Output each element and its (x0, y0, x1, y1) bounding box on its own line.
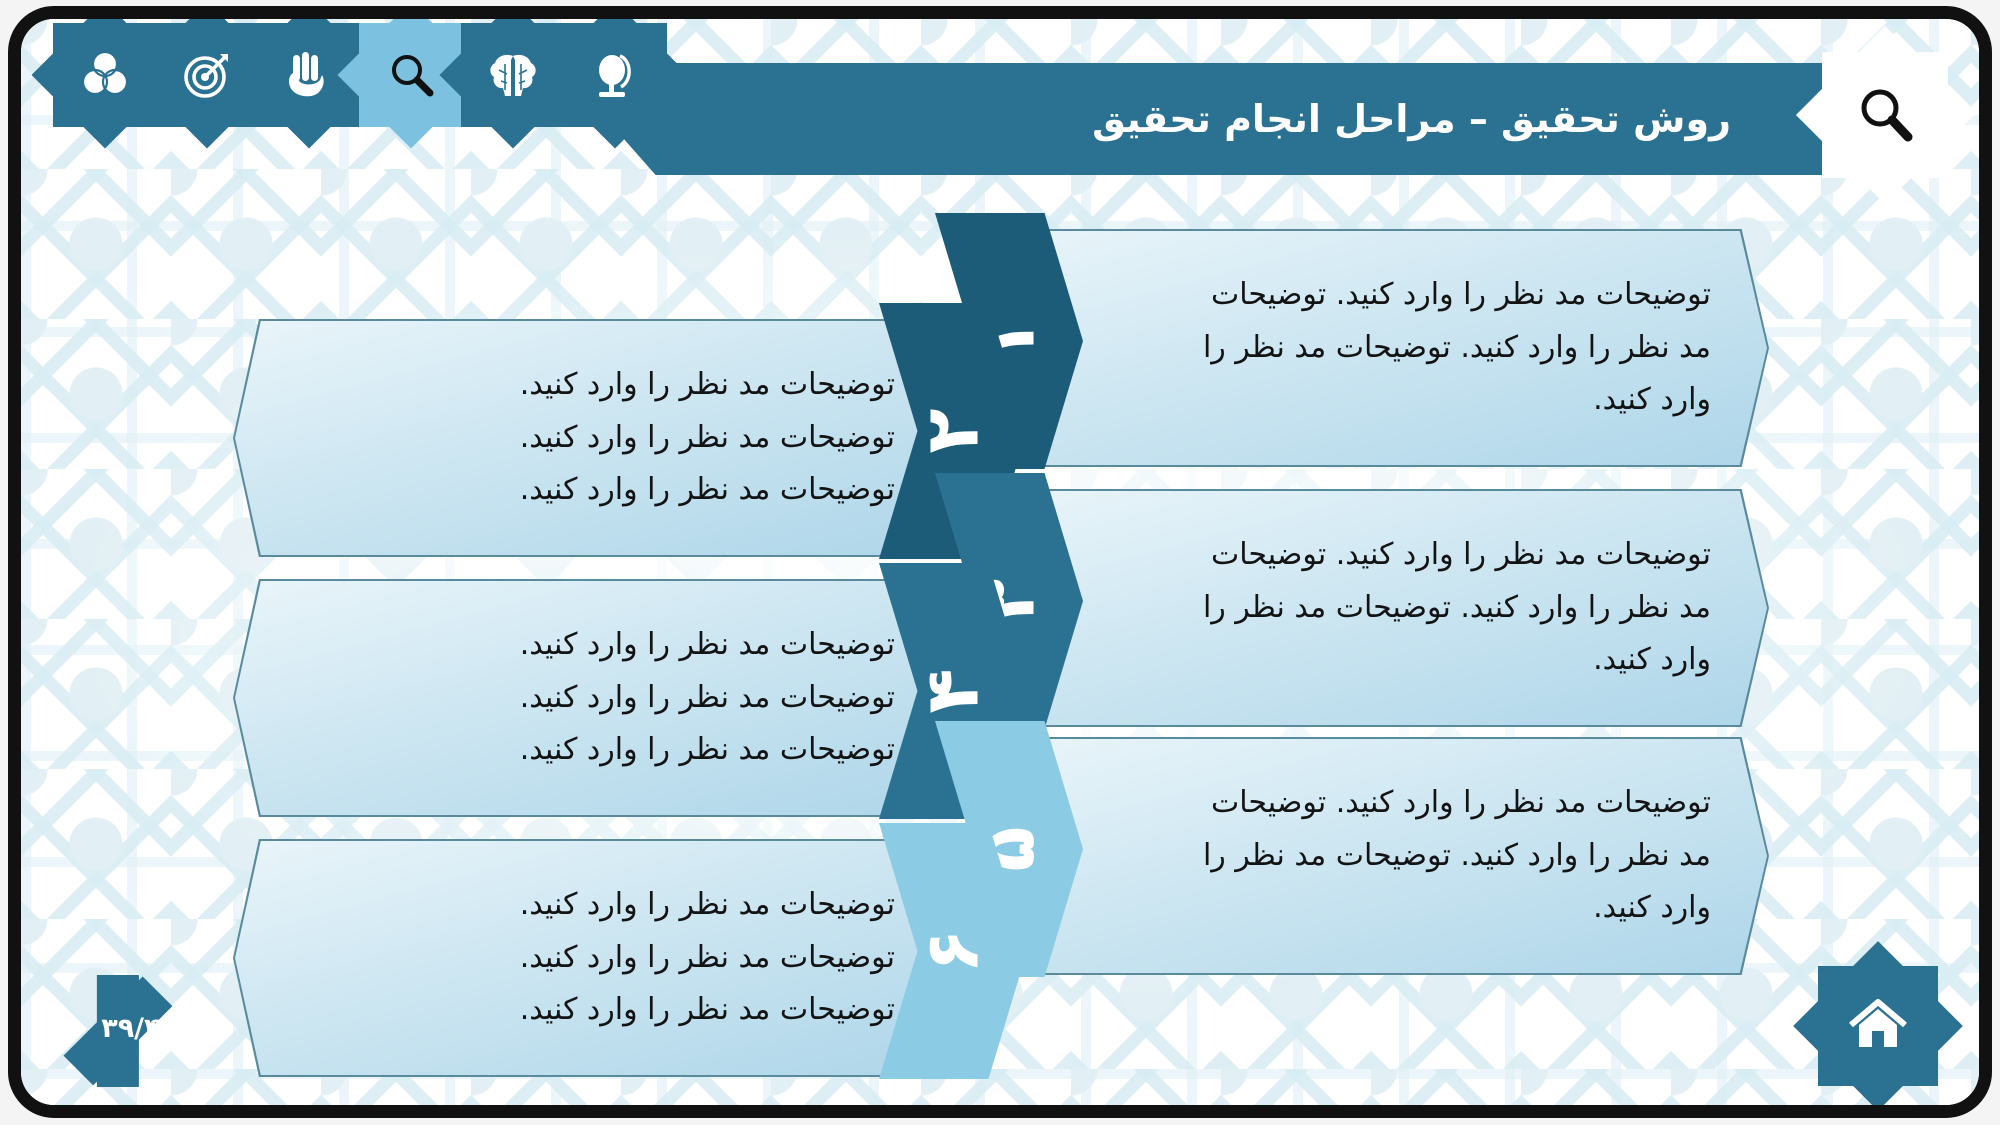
step-number: ۶ (916, 928, 990, 973)
hand-stop-icon (284, 49, 334, 101)
slide-root: روش تحقیق – مراحل انجام تحقیق (0, 0, 2000, 1125)
step-description: توضیحات مد نظر را وارد کنید. توضیحات مد … (1009, 489, 1769, 727)
step-description: توضیحات مد نظر را وارد کنید. توضیحات مد … (1009, 737, 1769, 975)
home-icon (1845, 995, 1911, 1057)
step-description: توضیحات مد نظر را وارد کنید. توضیحات مد … (233, 579, 953, 817)
step-description: توضیحات مد نظر را وارد کنید. توضیحات مد … (233, 319, 953, 557)
brain-icon (487, 50, 539, 100)
target-dart-icon (181, 49, 233, 101)
step-number: ۴ (916, 668, 990, 713)
page-number-badge: ۳۹/۴۸ (59, 969, 177, 1087)
step-card-2[interactable]: توضیحات مد نظر را وارد کنید. توضیحات مد … (233, 319, 953, 557)
step-card-6[interactable]: توضیحات مد نظر را وارد کنید. توضیحات مد … (233, 839, 953, 1077)
home-button[interactable] (1815, 963, 1941, 1089)
globe-icon (590, 49, 640, 101)
steps-canvas: توضیحات مد نظر را وارد کنید. توضیحات مد … (21, 19, 1979, 1105)
header-icon-row (51, 11, 663, 139)
page-number-label: ۳۹/۴۸ (101, 1013, 177, 1044)
magnifier-icon (1853, 83, 1917, 147)
header-icon-globe[interactable] (561, 11, 669, 139)
step-card-5[interactable]: توضیحات مد نظر را وارد کنید. توضیحات مد … (1009, 737, 1769, 975)
venn-diagram-icon (79, 49, 131, 101)
magnifier-icon (386, 50, 436, 100)
slide-frame: روش تحقیق – مراحل انجام تحقیق (8, 6, 1992, 1118)
step-card-1[interactable]: توضیحات مد نظر را وارد کنید. توضیحات مد … (1009, 229, 1769, 467)
page-title: روش تحقیق – مراحل انجام تحقیق (1092, 63, 1731, 175)
step-number: ۲ (916, 408, 990, 453)
step-description: توضیحات مد نظر را وارد کنید. توضیحات مد … (1009, 229, 1769, 467)
step-card-3[interactable]: توضیحات مد نظر را وارد کنید. توضیحات مد … (1009, 489, 1769, 727)
step-description: توضیحات مد نظر را وارد کنید. توضیحات مد … (233, 839, 953, 1077)
search-button[interactable] (1819, 49, 1951, 181)
step-card-4[interactable]: توضیحات مد نظر را وارد کنید. توضیحات مد … (233, 579, 953, 817)
